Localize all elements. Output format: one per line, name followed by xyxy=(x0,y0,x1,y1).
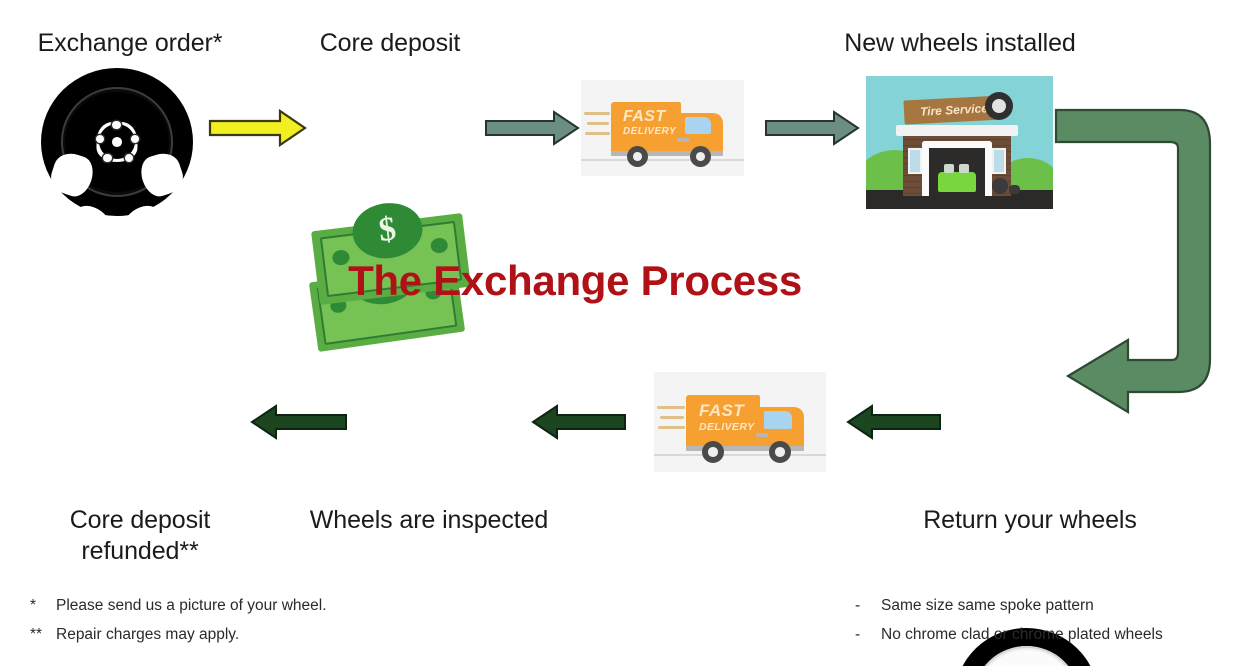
speed-line xyxy=(584,112,610,115)
footnote-item: - No chrome clad or chrome plated wheels xyxy=(855,621,1163,650)
truck-window xyxy=(764,411,792,429)
footnote-item: ** Repair charges may apply. xyxy=(30,621,327,650)
arrow-return-to-shipping xyxy=(842,404,942,440)
page-title: The Exchange Process xyxy=(0,257,1150,305)
truck-wheel xyxy=(627,146,648,167)
footnote-marker: - xyxy=(855,621,881,650)
footnote-text: Same size same spoke pattern xyxy=(881,592,1094,621)
truck-label-line1: FAST xyxy=(699,401,763,421)
footnote-marker: - xyxy=(855,592,881,621)
footnotes-left: * Please send us a picture of your wheel… xyxy=(30,592,327,649)
truck-image-outbound: FAST DELIVERY xyxy=(581,80,744,176)
lug-nut xyxy=(112,121,120,129)
speed-line xyxy=(587,122,609,125)
truck-label-line2: DELIVERY xyxy=(623,126,683,138)
ground-line xyxy=(581,159,744,161)
truck-wheel xyxy=(769,441,791,463)
truck-mirror xyxy=(677,138,689,142)
garage-sign-text: Tire Service xyxy=(920,101,988,119)
label-refund-line2: refunded** xyxy=(25,536,255,567)
truck-mirror xyxy=(756,433,768,437)
footnote-marker: ** xyxy=(30,621,56,650)
sign-tire-icon xyxy=(985,92,1013,120)
car-window-left xyxy=(944,164,954,173)
exchange-process-diagram: Exchange order* $ $ xyxy=(0,0,1250,666)
truck-label-line2: DELIVERY xyxy=(699,421,763,433)
arrow-order-to-deposit xyxy=(208,108,308,148)
speed-line xyxy=(585,132,610,135)
label-wheels-are-inspected: Wheels are inspected xyxy=(300,505,558,536)
footnote-marker: * xyxy=(30,592,56,621)
label-new-wheels-installed: New wheels installed xyxy=(810,28,1110,59)
car-in-bay xyxy=(938,172,976,192)
truck-wheel xyxy=(702,441,724,463)
truck-window xyxy=(685,117,711,134)
speed-line xyxy=(657,406,685,409)
garage-window-left xyxy=(908,148,922,174)
lug-nut xyxy=(125,154,133,162)
truck-label: FAST DELIVERY xyxy=(699,401,763,433)
garage-image-tire-service: Tire Service xyxy=(866,76,1053,209)
lug-nut xyxy=(96,135,104,143)
truck-label: FAST DELIVERY xyxy=(623,108,683,138)
arrow-inspection-to-refund xyxy=(246,404,348,440)
footnote-text: Repair charges may apply. xyxy=(56,621,239,650)
ground-line xyxy=(654,454,826,456)
label-core-deposit-refunded: Core deposit refunded** xyxy=(25,505,255,568)
arrow-shipping-to-inspection xyxy=(527,404,627,440)
label-core-deposit: Core deposit xyxy=(285,28,495,59)
lug-nut xyxy=(103,154,111,162)
spare-tire xyxy=(992,178,1008,194)
arrow-shipping-to-install xyxy=(764,110,860,146)
lug-nut xyxy=(131,135,139,143)
garage-window-right xyxy=(992,148,1006,174)
arrow-deposit-to-shipping xyxy=(484,110,580,146)
footnotes-right: - Same size same spoke pattern - No chro… xyxy=(855,592,1163,649)
truck-image-return: FAST DELIVERY xyxy=(654,372,826,472)
wheel-icon-exchange-order xyxy=(41,68,193,216)
footnote-text: Please send us a picture of your wheel. xyxy=(56,592,327,621)
label-exchange-order: Exchange order* xyxy=(0,28,260,59)
label-return-your-wheels: Return your wheels xyxy=(895,505,1165,536)
truck-wheel xyxy=(690,146,711,167)
footnote-item: - Same size same spoke pattern xyxy=(855,592,1163,621)
footnote-text: No chrome clad or chrome plated wheels xyxy=(881,621,1163,650)
truck-label-line1: FAST xyxy=(623,108,683,126)
speed-line xyxy=(658,426,685,429)
car-window-right xyxy=(959,164,969,173)
label-refund-line1: Core deposit xyxy=(25,505,255,536)
footnote-item: * Please send us a picture of your wheel… xyxy=(30,592,327,621)
garage-roof xyxy=(896,125,1018,136)
speed-line xyxy=(660,416,684,419)
tool-item xyxy=(1009,185,1020,194)
